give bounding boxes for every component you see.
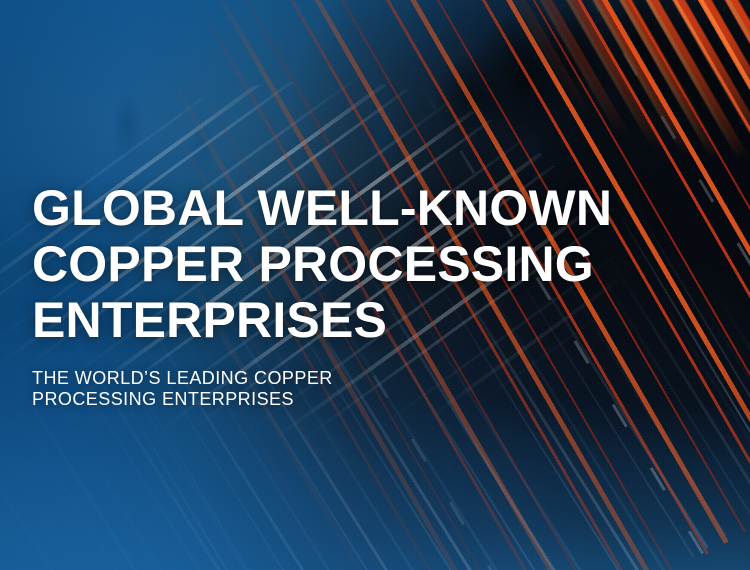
- page-title: GLOBAL WELL-KNOWN COPPER PROCESSING ENTE…: [32, 180, 672, 348]
- headline-line-2: COPPER PROCESSING: [32, 236, 672, 292]
- headline-line-3: ENTERPRISES: [32, 292, 672, 348]
- page-subtitle: THE WORLD’S LEADING COPPER PROCESSING EN…: [32, 368, 672, 410]
- headline-line-1: GLOBAL WELL-KNOWN: [32, 180, 672, 236]
- hero-banner: GLOBAL WELL-KNOWN COPPER PROCESSING ENTE…: [0, 0, 750, 570]
- subheading-line-2: PROCESSING ENTERPRISES: [32, 389, 672, 410]
- hero-copy-block: GLOBAL WELL-KNOWN COPPER PROCESSING ENTE…: [32, 180, 672, 410]
- subheading-line-1: THE WORLD’S LEADING COPPER: [32, 368, 672, 389]
